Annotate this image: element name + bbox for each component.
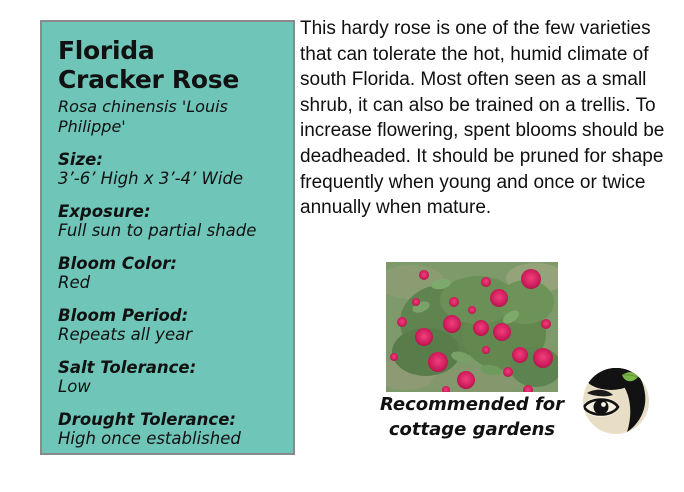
rose-bush-image xyxy=(386,262,558,392)
attribute-drought-tolerance: Drought Tolerance: High once established xyxy=(58,410,279,449)
attribute-value: Red xyxy=(58,273,279,293)
photo-caption-line-2: cottage gardens xyxy=(366,417,578,442)
brand-logo xyxy=(581,366,651,436)
plant-info-panel: Florida Cracker Rose Rosa chinensis 'Lou… xyxy=(40,20,295,455)
attribute-label: Bloom Period: xyxy=(58,306,279,325)
photo-caption-line-1: Recommended for xyxy=(366,392,578,417)
attribute-label: Drought Tolerance: xyxy=(58,410,279,429)
plant-description: This hardy rose is one of the few variet… xyxy=(300,16,668,221)
eye-leaf-logo-icon xyxy=(581,366,651,436)
plant-photo xyxy=(386,262,558,392)
attribute-exposure: Exposure: Full sun to partial shade xyxy=(58,202,279,241)
attribute-size: Size: 3’-6’ High x 3’-4’ Wide xyxy=(58,150,279,189)
attribute-label: Bloom Color: xyxy=(58,254,279,273)
attribute-label: Exposure: xyxy=(58,202,279,221)
photo-caption: Recommended for cottage gardens xyxy=(366,392,578,442)
attribute-value: Full sun to partial shade xyxy=(58,221,279,241)
page-title: Florida Cracker Rose xyxy=(58,36,279,94)
attribute-label: Size: xyxy=(58,150,279,169)
attribute-value: High once established xyxy=(58,429,279,449)
attribute-salt-tolerance: Salt Tolerance: Low xyxy=(58,358,279,397)
plant-title-line-2: Cracker Rose xyxy=(58,65,279,94)
attribute-value: Low xyxy=(58,377,279,397)
plant-title-line-1: Florida xyxy=(58,36,279,65)
attribute-bloom-period: Bloom Period: Repeats all year xyxy=(58,306,279,345)
attribute-label: Salt Tolerance: xyxy=(58,358,279,377)
attribute-bloom-color: Bloom Color: Red xyxy=(58,254,279,293)
attribute-value: Repeats all year xyxy=(58,325,279,345)
attribute-value: 3’-6’ High x 3’-4’ Wide xyxy=(58,169,279,189)
plant-botanical-name: Rosa chinensis 'Louis Philippe' xyxy=(58,97,279,137)
